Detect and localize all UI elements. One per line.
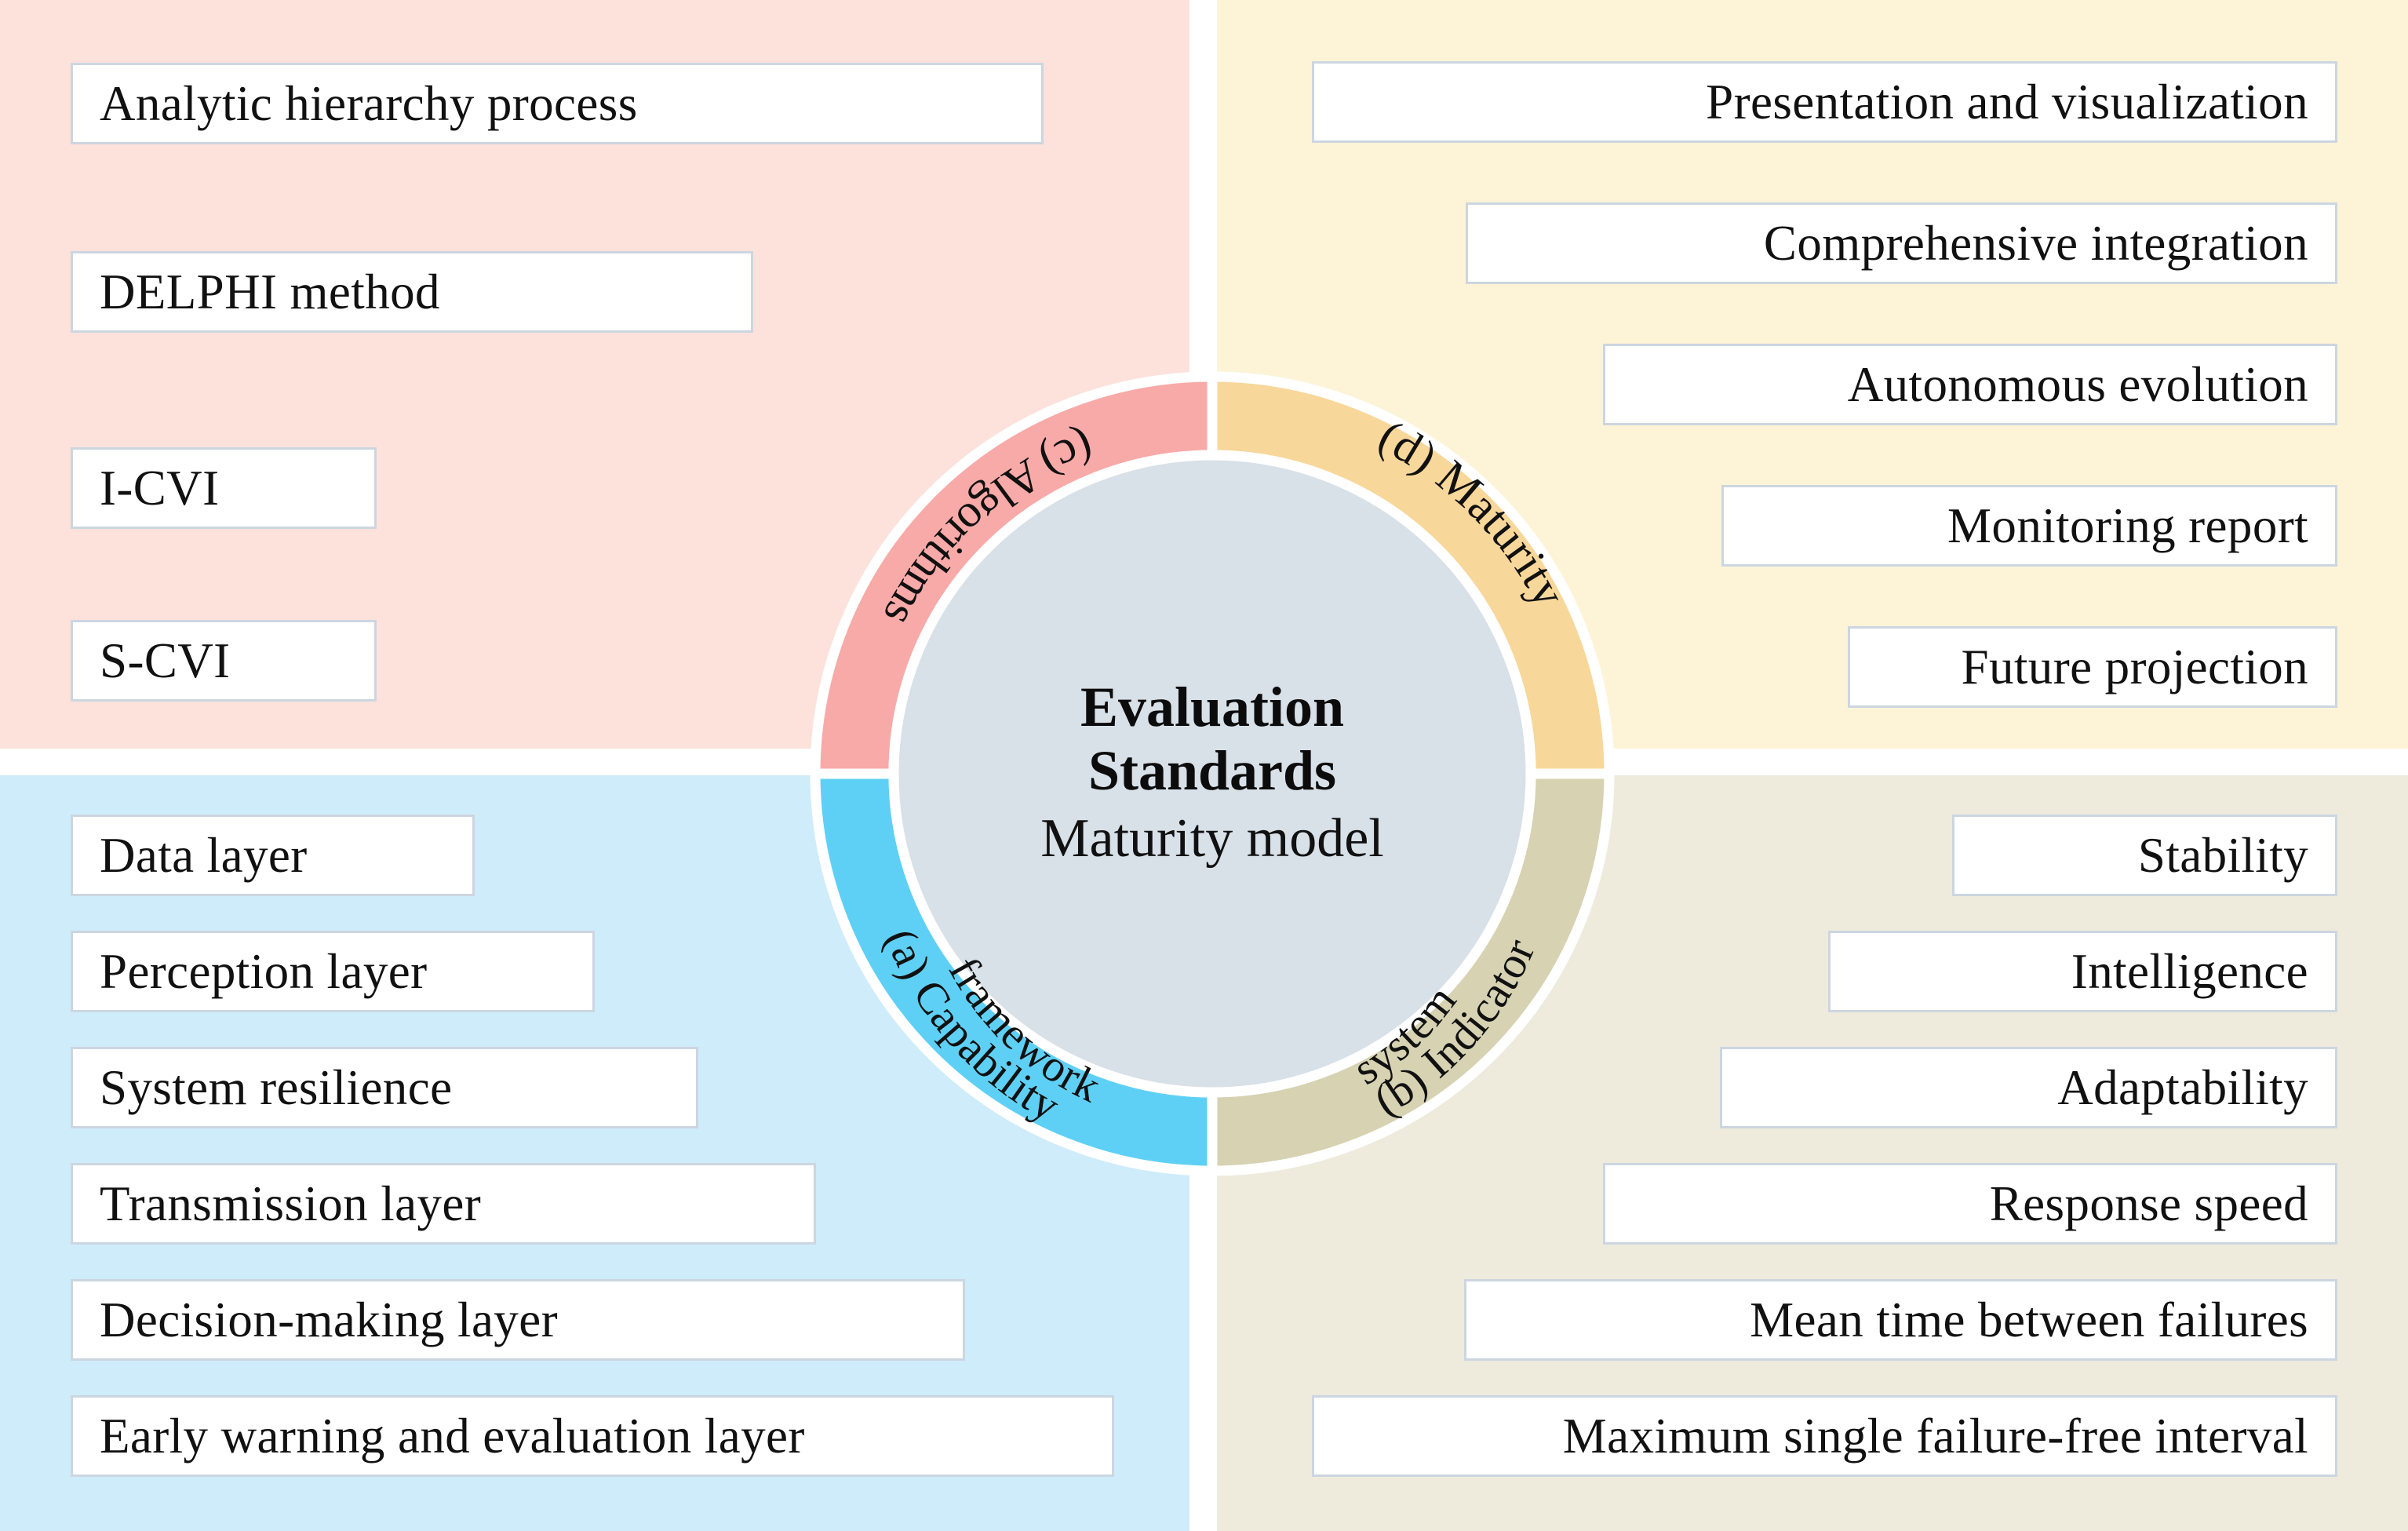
list-item[interactable]: Maximum single failure-free interval — [1312, 1395, 2337, 1477]
list-item[interactable]: Presentation and visualization — [1312, 61, 2337, 143]
list-item[interactable]: System resilience — [71, 1047, 698, 1128]
list-item[interactable]: Perception layer — [71, 931, 595, 1012]
list-item[interactable]: DELPHI method — [71, 251, 753, 333]
list-item[interactable]: Analytic hierarchy process — [71, 63, 1044, 144]
list-item[interactable]: Adaptability — [1720, 1047, 2337, 1128]
list-item[interactable]: Stability — [1952, 815, 2337, 896]
list-item[interactable]: Transmission layer — [71, 1163, 816, 1245]
list-item[interactable]: Mean time between failures — [1464, 1279, 2337, 1361]
list-item[interactable]: Future projection — [1848, 626, 2337, 708]
list-item[interactable]: Intelligence — [1828, 931, 2337, 1012]
list-item[interactable]: Decision-making layer — [71, 1279, 965, 1361]
list-item[interactable]: Response speed — [1603, 1163, 2337, 1245]
list-item[interactable]: Autonomous evolution — [1603, 344, 2337, 425]
list-item[interactable]: S-CVI — [71, 620, 377, 702]
list-item[interactable]: Monitoring report — [1721, 485, 2337, 567]
list-item[interactable]: Data layer — [71, 815, 475, 896]
list-item[interactable]: I-CVI — [71, 447, 377, 529]
list-item[interactable]: Early warning and evaluation layer — [71, 1395, 1114, 1477]
central-donut-chart: (c) Algorithms (d) Maturity (a) Capabili… — [800, 361, 1625, 1187]
list-item[interactable]: Comprehensive integration — [1466, 202, 2337, 284]
diagram-canvas: Analytic hierarchy process DELPHI method… — [0, 0, 2408, 1531]
